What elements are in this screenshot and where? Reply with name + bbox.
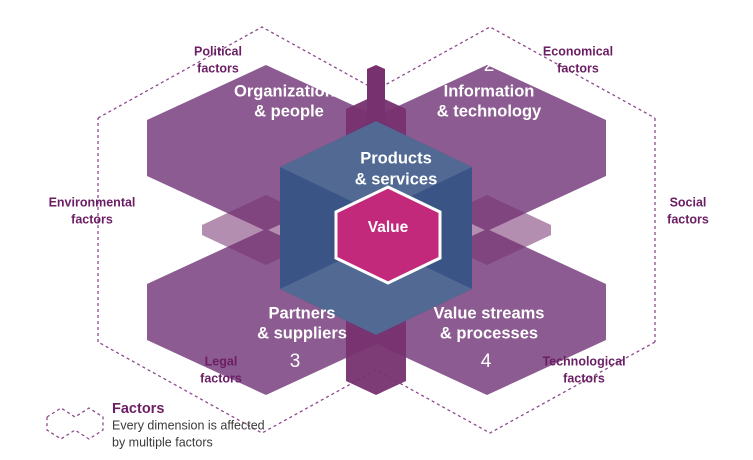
factor-economical-line2: factors <box>557 61 599 75</box>
legend-title: Factors <box>112 401 164 417</box>
diagram-root: Products & services Value 1 Organization… <box>0 0 753 460</box>
dimension-number-2: 2 <box>484 55 495 76</box>
dimension-label-2: 2 Information & technology <box>437 55 542 120</box>
factor-political-line1: Political <box>194 44 242 58</box>
dimension-title-4-line2: & processes <box>440 324 538 342</box>
factor-political: Political factors <box>194 44 242 75</box>
value-label: Value <box>368 219 409 236</box>
dimension-number-3: 3 <box>290 351 301 372</box>
dimension-title-1-line1: Organizations <box>234 82 344 100</box>
center-label-line2: & services <box>355 170 438 188</box>
center-label-line1: Products <box>360 149 432 167</box>
dimension-title-1-line2: & people <box>254 102 324 120</box>
legend: Factors Every dimension is affected by m… <box>47 401 265 449</box>
dimension-title-2-line2: & technology <box>437 102 542 120</box>
factor-technological-line1: Technological <box>542 354 625 368</box>
factor-environmental-line1: Environmental <box>49 195 136 209</box>
factor-economical: Economical factors <box>543 44 613 75</box>
factor-legal-line2: factors <box>200 371 242 385</box>
diagram-canvas: Products & services Value 1 Organization… <box>0 0 753 460</box>
dimension-title-2-line1: Information <box>444 82 535 100</box>
factor-political-line2: factors <box>197 61 239 75</box>
legend-factors-icon <box>47 408 103 439</box>
factor-environmental-line2: factors <box>71 212 113 226</box>
legend-description-line2: by multiple factors <box>112 435 213 449</box>
dimension-title-3-line1: Partners <box>269 304 336 322</box>
dimension-title-3-line2: & suppliers <box>257 324 347 342</box>
factor-technological-line2: factors <box>563 371 605 385</box>
dimension-title-4-line1: Value streams <box>434 304 545 322</box>
legend-description-line1: Every dimension is affected <box>112 418 265 432</box>
dimension-number-4: 4 <box>481 351 492 372</box>
dimension-number-1: 1 <box>284 55 295 76</box>
factor-legal-line1: Legal <box>205 354 238 368</box>
factor-economical-line1: Economical <box>543 44 613 58</box>
factor-environmental: Environmental factors <box>49 195 136 226</box>
factor-social-line1: Social <box>670 195 707 209</box>
factor-social-line2: factors <box>667 212 709 226</box>
factor-social: Social factors <box>667 195 709 226</box>
factor-technological: Technological factors <box>542 354 625 385</box>
